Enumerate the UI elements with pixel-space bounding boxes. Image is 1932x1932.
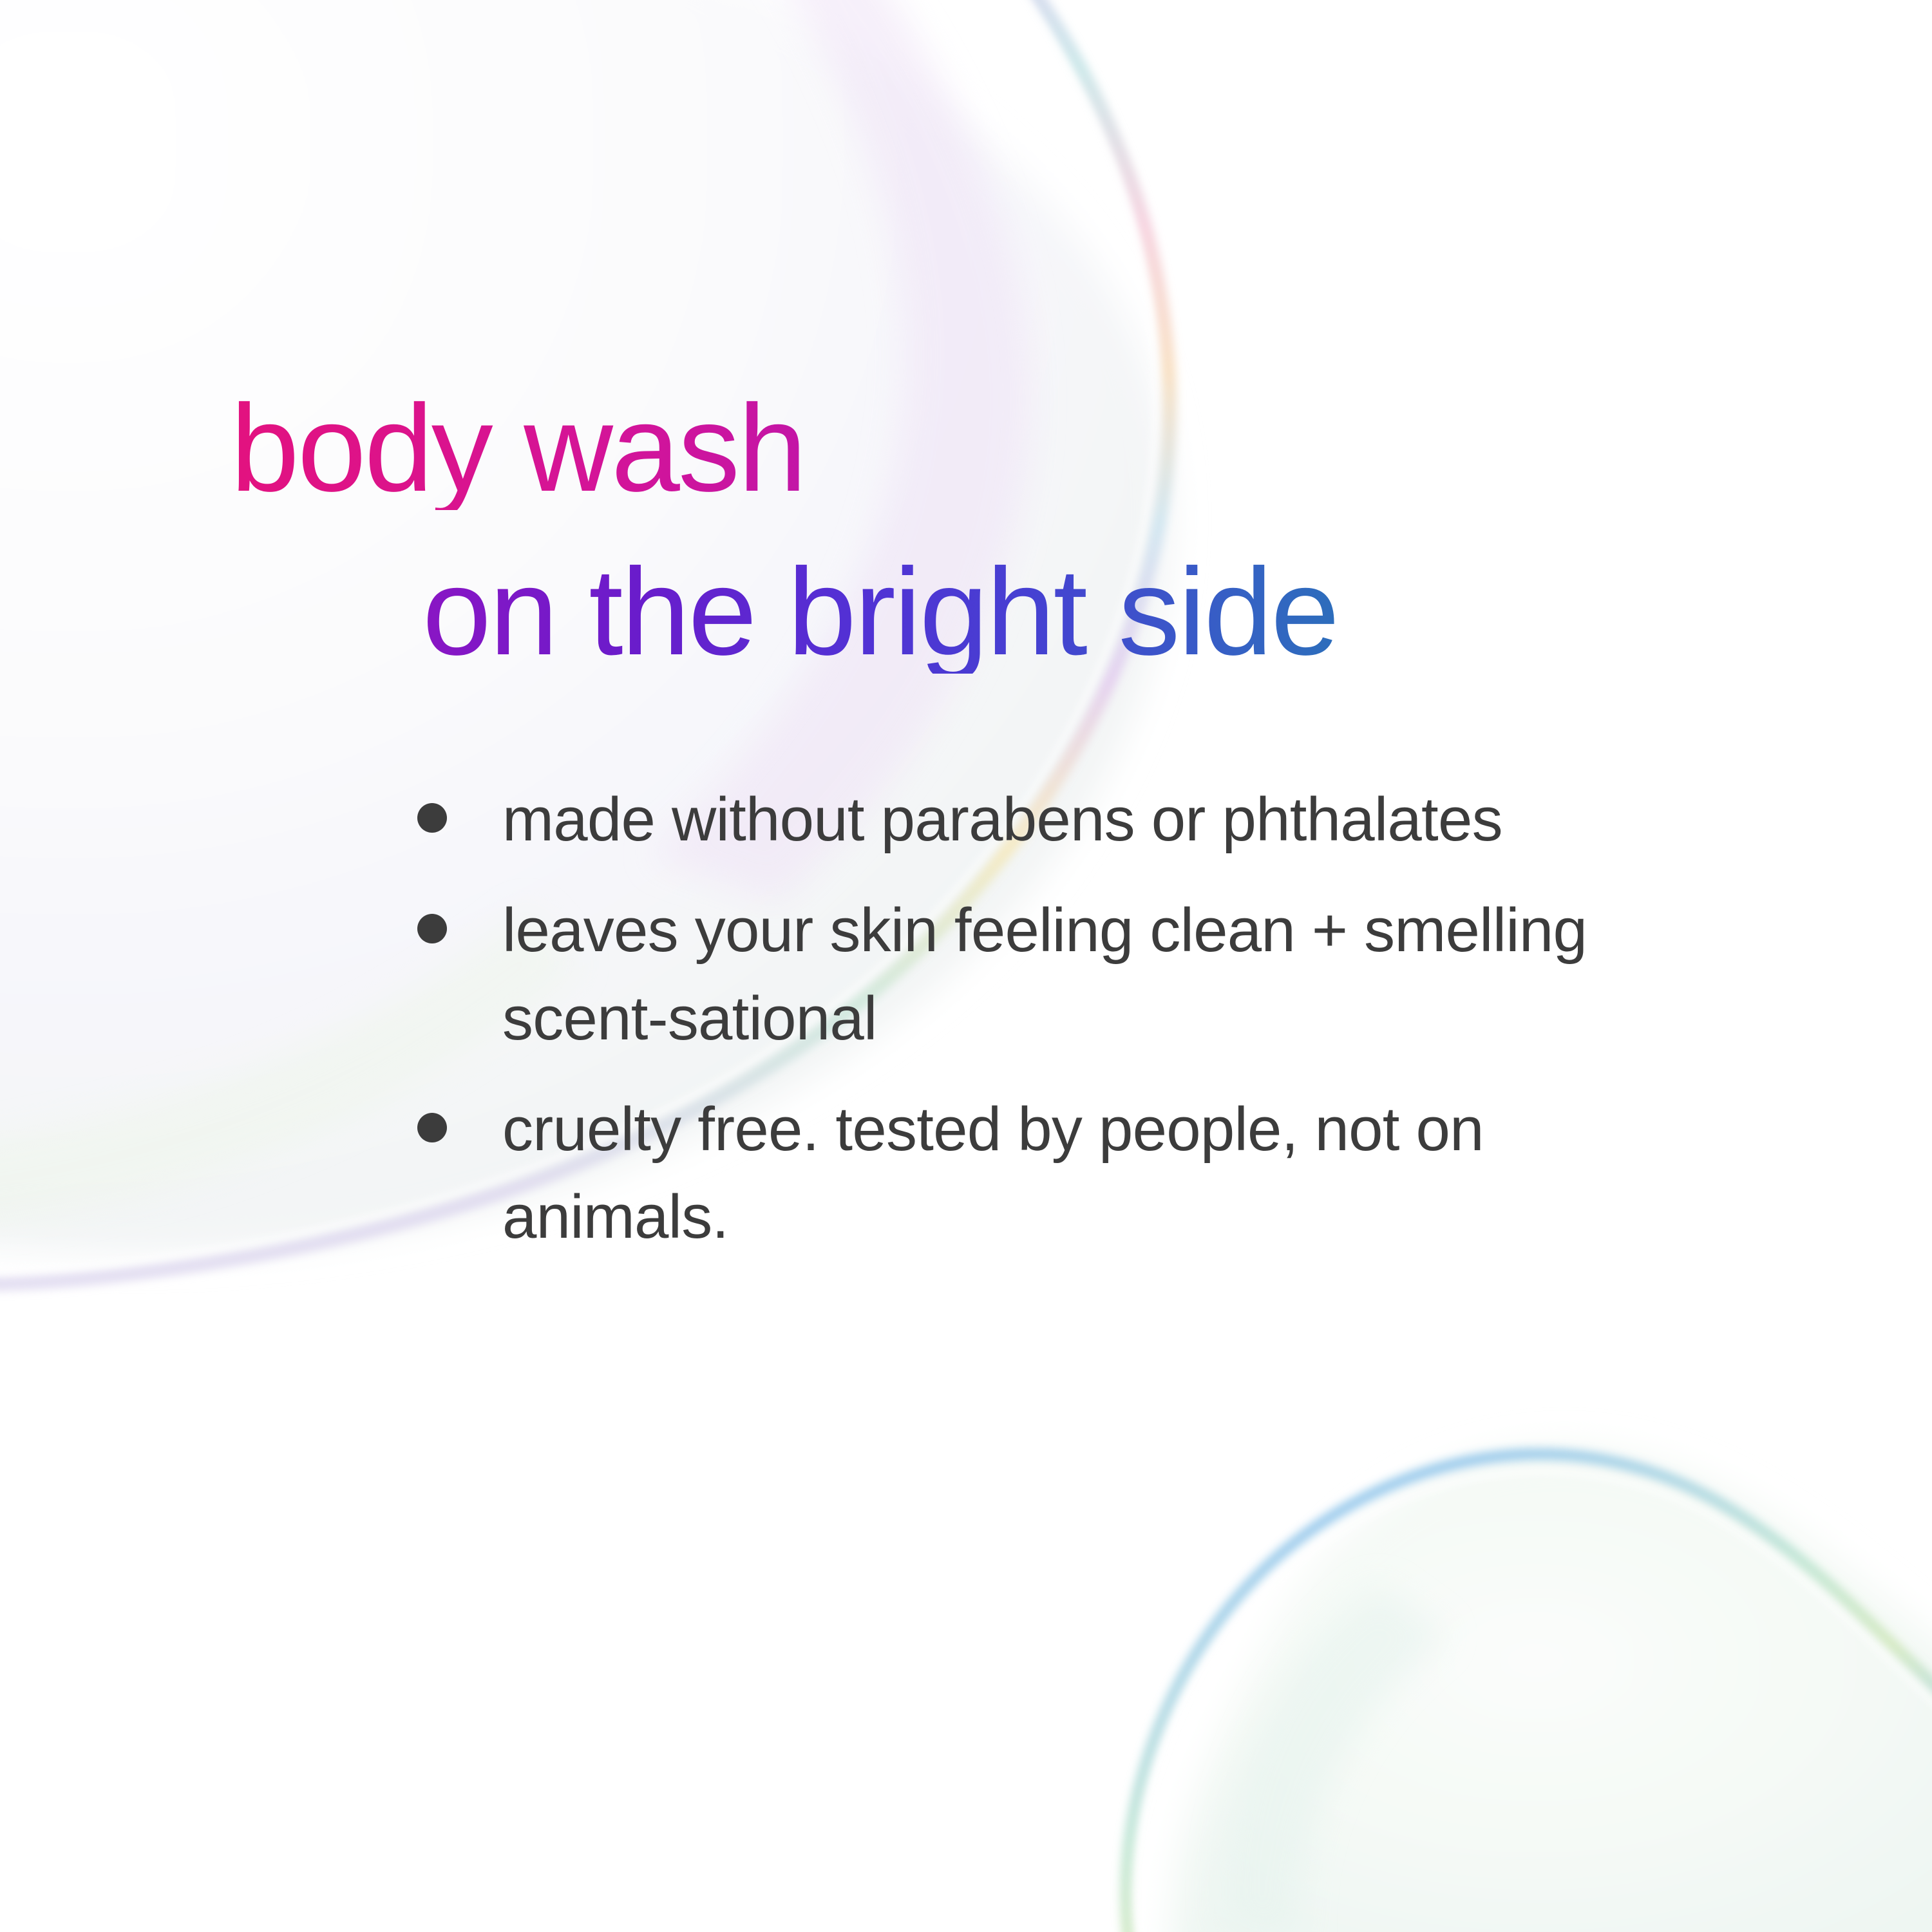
bullet-dot-cell (417, 776, 502, 833)
bullet-dot-icon (417, 1113, 447, 1142)
bullet-text: cruelty free. tested by people, not on a… (502, 1086, 1680, 1262)
bullet-text: made without parabens or phthalates (502, 776, 1680, 864)
bullet-dot-cell (417, 887, 502, 943)
feature-bullet-list: made without parabens or phthalates leav… (417, 776, 1680, 1285)
bullet-dot-icon (417, 803, 447, 833)
list-item: made without parabens or phthalates (417, 776, 1680, 864)
headline-block: body wash on the bright side (0, 386, 1932, 674)
bullet-dot-icon (417, 914, 447, 943)
bullet-dot-cell (417, 1086, 502, 1142)
poster-canvas: body wash on the bright side made withou… (0, 0, 1932, 1932)
list-item: leaves your skin feeling clean + smellin… (417, 887, 1680, 1063)
bullet-text: leaves your skin feeling clean + smellin… (502, 887, 1680, 1063)
bubble-bottom-right (1126, 1447, 1932, 1932)
headline-line-2: on the bright side (422, 550, 1932, 674)
list-item: cruelty free. tested by people, not on a… (417, 1086, 1680, 1262)
headline-line-1: body wash (231, 386, 1932, 510)
